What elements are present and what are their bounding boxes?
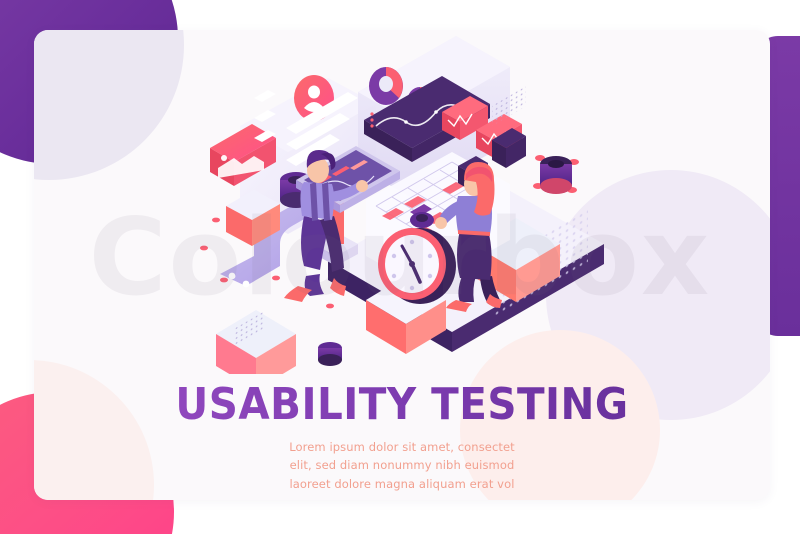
heading-block: USABILITY TESTING Lorem ipsum dolor sit …	[34, 382, 770, 494]
pale-lavender-circle-top-left	[34, 30, 184, 180]
cube-pink-2	[216, 310, 296, 374]
isometric-scene	[180, 34, 620, 374]
illustration-canvas: Colourbox	[0, 0, 800, 534]
subtitle-line-2: elit, sed diam nonummy nibh euismod	[34, 456, 770, 475]
page-subtitle: Lorem ipsum dolor sit amet, consectet el…	[34, 438, 770, 494]
page-title: USABILITY TESTING	[63, 382, 740, 428]
cylinder-purple-2	[540, 156, 572, 194]
cylinder-purple-3	[318, 342, 342, 366]
donut-chart-large	[369, 67, 403, 105]
subtitle-line-1: Lorem ipsum dolor sit amet, consectet	[34, 438, 770, 457]
subtitle-line-3: laoreet dolore magna aliquam erat vol	[34, 475, 770, 494]
